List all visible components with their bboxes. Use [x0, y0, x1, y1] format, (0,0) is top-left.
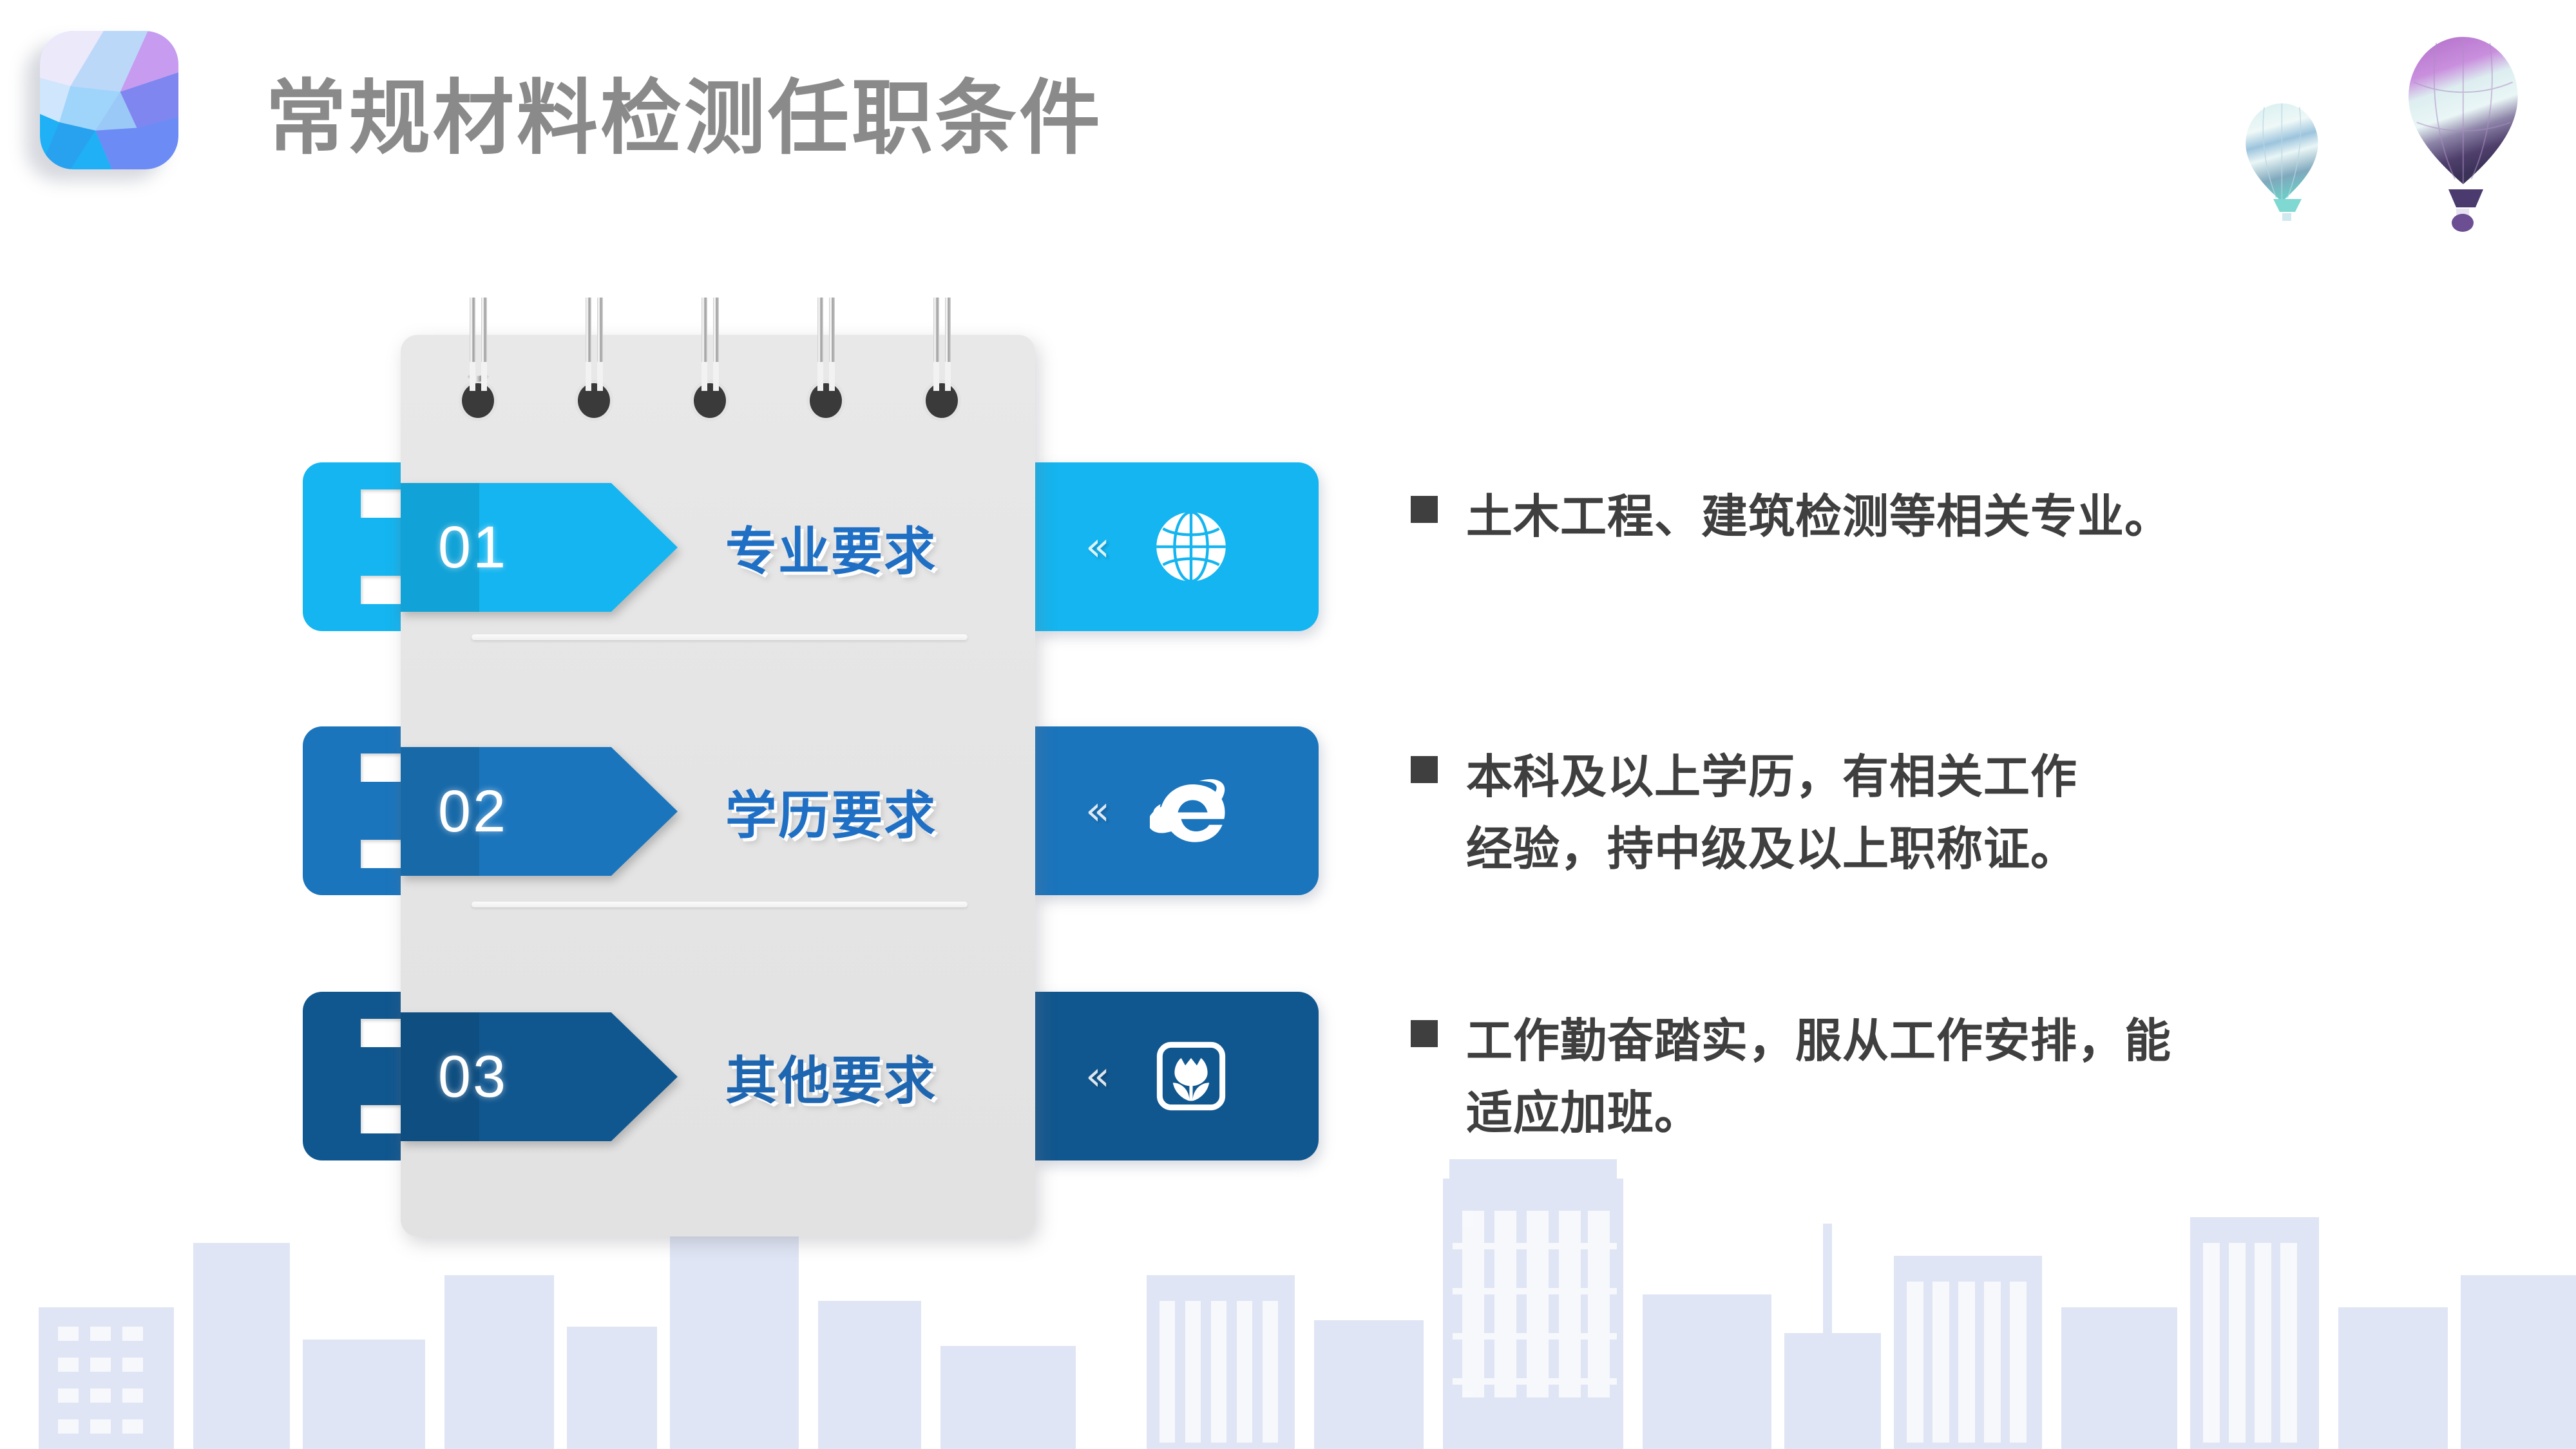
- bullet-line: 工作勤奋踏实，服从工作安排，能: [1466, 1016, 2171, 1067]
- row-title-02: 学历要求: [683, 747, 979, 876]
- low-poly-gem-app-icon: [40, 31, 178, 169]
- page-title: 常规材料检测任职条件: [265, 53, 1103, 170]
- bullet-text-02: 本科及以上学历，有相关工作 经验，持中级及以上职称证。: [1466, 742, 2077, 885]
- spiral-binding-rings: [401, 298, 1035, 465]
- chevron-left-double-icon: «: [1085, 1056, 1110, 1096]
- notepad-divider: [472, 634, 968, 640]
- bullet-line: 经验，持中级及以上职称证。: [1466, 824, 2077, 875]
- step-number-tag-03: 03: [401, 1012, 678, 1141]
- row-title-01: 专业要求: [683, 483, 979, 612]
- slide-canvas: 常规材料检测任职条件: [0, 0, 2576, 1449]
- city-skyline-silhouette: [0, 1114, 2576, 1449]
- bullet-square-icon: [1411, 756, 1438, 783]
- internet-explorer-e-icon: [1150, 770, 1232, 852]
- chevron-left-double-icon: «: [1085, 527, 1110, 567]
- icon-panel-01[interactable]: «: [1035, 462, 1319, 631]
- spiral-binding-ring: [691, 298, 729, 421]
- notepad-divider: [472, 902, 968, 907]
- chevron-left-double-icon: «: [1085, 791, 1110, 831]
- step-number-label: 03: [415, 1012, 531, 1141]
- spiral-binding-ring: [922, 298, 961, 421]
- row-title-03: 其他要求: [683, 1012, 979, 1141]
- step-number-label: 01: [415, 483, 531, 612]
- tulip-flower-icon: [1150, 1035, 1232, 1117]
- bullet-text-01: 土木工程、建筑检测等相关专业。: [1466, 482, 2171, 554]
- bullet-line: 本科及以上学历，有相关工作: [1466, 752, 2077, 803]
- bullet-item-02: 本科及以上学历，有相关工作 经验，持中级及以上职称证。: [1411, 742, 2077, 885]
- icon-panel-02[interactable]: «: [1035, 726, 1319, 895]
- spiral-binding-ring: [459, 298, 497, 421]
- bullet-line: 适应加班。: [1466, 1088, 1701, 1139]
- bullet-square-icon: [1411, 1020, 1438, 1047]
- hot-air-balloons-icon: [2229, 3, 2564, 279]
- bullet-line: 土木工程、建筑检测等相关专业。: [1466, 491, 2171, 543]
- globe-icon: [1150, 506, 1232, 588]
- step-number-tag-02: 02: [401, 747, 678, 876]
- spiral-binding-ring: [806, 298, 845, 421]
- spiral-binding-ring: [575, 298, 613, 421]
- bullet-item-01: 土木工程、建筑检测等相关专业。: [1411, 482, 2171, 554]
- step-number-label: 02: [415, 747, 531, 876]
- bullet-square-icon: [1411, 496, 1438, 523]
- bullet-item-03: 工作勤奋踏实，服从工作安排，能 适应加班。: [1411, 1006, 2171, 1150]
- step-number-tag-01: 01: [401, 483, 678, 612]
- bullet-text-03: 工作勤奋踏实，服从工作安排，能 适应加班。: [1466, 1006, 2171, 1150]
- icon-panel-03[interactable]: «: [1035, 992, 1319, 1160]
